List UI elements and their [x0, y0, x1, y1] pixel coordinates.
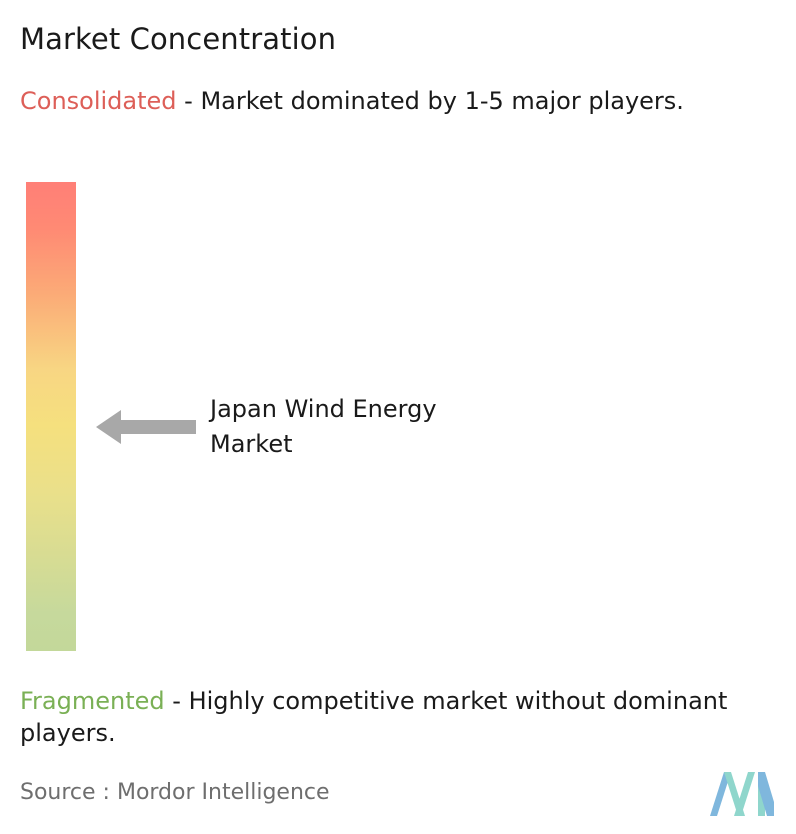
page-title: Market Concentration	[20, 20, 336, 58]
market-marker-label: Japan Wind Energy Market	[210, 391, 510, 462]
legend-consolidated-separator: -	[177, 87, 201, 115]
arrow-left-icon	[95, 391, 196, 463]
legend-fragmented-separator: -	[165, 687, 189, 715]
legend-consolidated-term: Consolidated	[20, 87, 177, 115]
legend-consolidated-description: Market dominated by 1-5 major players.	[200, 87, 683, 115]
source-attribution: Source : Mordor Intelligence	[20, 778, 330, 808]
market-concentration-infographic: Market Concentration Consolidated - Mark…	[0, 0, 796, 834]
legend-fragmented-term: Fragmented	[20, 687, 165, 715]
concentration-gradient-bar	[26, 182, 76, 651]
legend-fragmented: Fragmented - Highly competitive market w…	[20, 685, 785, 749]
market-marker: Japan Wind Energy Market	[95, 391, 510, 463]
mordor-intelligence-logo	[710, 772, 774, 816]
legend-consolidated: Consolidated - Market dominated by 1-5 m…	[20, 85, 760, 117]
footer: Source : Mordor Intelligence	[0, 778, 796, 824]
